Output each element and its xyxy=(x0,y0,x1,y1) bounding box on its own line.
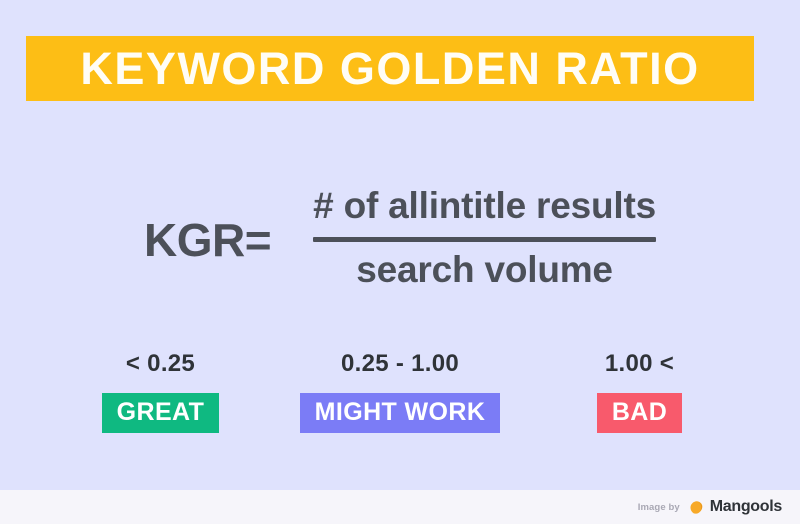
mango-icon xyxy=(689,500,704,515)
footer-credit-bar: Image by Mangools xyxy=(0,490,800,524)
status-badge-might-work: MIGHT WORK xyxy=(300,393,501,433)
formula-numerator: # of allintitle results xyxy=(313,184,656,228)
fraction-bar-divider xyxy=(313,237,656,242)
formula-left-label: KGR= xyxy=(144,217,271,263)
brand-name: Mangools xyxy=(710,499,782,515)
status-badge-bad: BAD xyxy=(597,393,682,433)
verdict-column-bad: 1.00 < BAD xyxy=(527,352,752,433)
verdict-range-bad: 1.00 < xyxy=(605,352,674,376)
credit-label: Image by xyxy=(638,502,680,513)
verdict-range-might-work: 0.25 - 1.00 xyxy=(341,352,459,376)
infographic-canvas: KEYWORD GOLDEN RATIO KGR= # of allintitl… xyxy=(0,0,800,490)
verdict-legend: < 0.25 GREAT 0.25 - 1.00 MIGHT WORK 1.00… xyxy=(48,352,752,448)
page-title: KEYWORD GOLDEN RATIO xyxy=(80,46,699,91)
kgr-formula: KGR= # of allintitle results search volu… xyxy=(0,168,800,308)
verdict-range-great: < 0.25 xyxy=(126,352,195,376)
verdict-column-might-work: 0.25 - 1.00 MIGHT WORK xyxy=(288,352,513,433)
formula-denominator: search volume xyxy=(356,248,613,292)
status-badge-great: GREAT xyxy=(102,393,220,433)
verdict-column-great: < 0.25 GREAT xyxy=(48,352,273,433)
title-banner: KEYWORD GOLDEN RATIO xyxy=(26,36,754,101)
formula-fraction: # of allintitle results search volume xyxy=(313,184,656,291)
kgr-infographic: KEYWORD GOLDEN RATIO KGR= # of allintitl… xyxy=(0,0,800,524)
